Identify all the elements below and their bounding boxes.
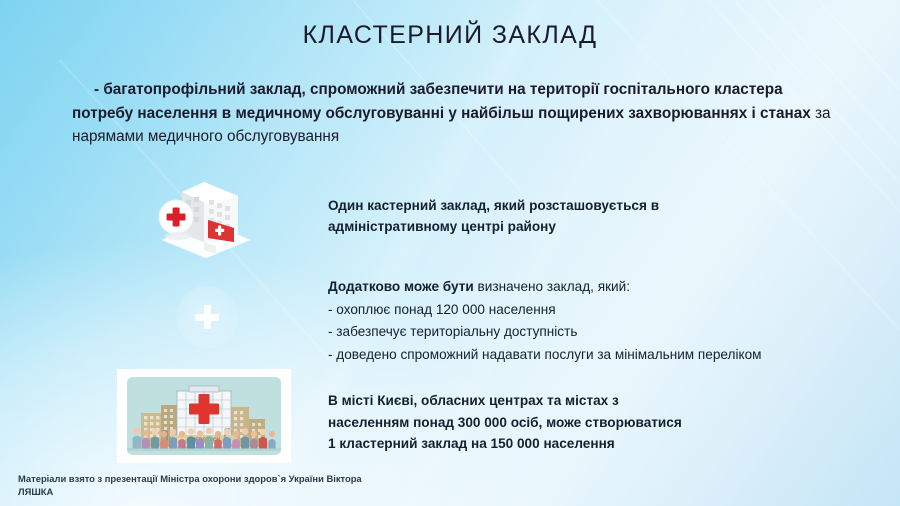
city-crowd-illustration: EMERGENCY — [117, 369, 291, 463]
block3-line-2: населенням понад 300 000 осіб, може ство… — [328, 412, 682, 434]
block2-heading-regular: визначено заклад, який: — [474, 279, 630, 294]
block2-heading: Додатково може бути визначено заклад, як… — [328, 276, 761, 299]
block1-line-1: Один кастерний заклад, який розсташовуєт… — [328, 196, 659, 217]
page-title: КЛАСТЕРНИЙ ЗАКЛАД — [0, 21, 900, 50]
plus-horizontal-bar — [195, 314, 219, 321]
intro-bold-text: - багатопрофільний заклад, спроможний за… — [72, 81, 811, 122]
block2-heading-bold: Додатково може бути — [328, 279, 474, 294]
block-large-cities: В місті Києві, обласних центрах та міста… — [328, 390, 682, 455]
footer-line-1: Матеріали взято з презентації Міністра о… — [18, 473, 488, 486]
hospital-building-icon — [142, 162, 268, 260]
intro-paragraph: - багатопрофільний заклад, спроможний за… — [72, 78, 834, 149]
block-additional-criteria: Додатково може бути визначено заклад, як… — [328, 276, 761, 366]
block-one-cluster-facility: Один кастерний заклад, який розсташовуєт… — [328, 196, 659, 237]
block1-line-2: адміністративному центрі району — [328, 217, 659, 238]
plus-badge-icon — [176, 286, 238, 348]
block3-line-3: 1 кластерний заклад на 150 000 населення — [328, 433, 682, 455]
block2-bullet-3: - доведено спроможний надавати послуги з… — [328, 344, 761, 367]
block2-bullet-1: - охоплює понад 120 000 населення — [328, 299, 761, 322]
source-footer: Матеріали взято з презентації Міністра о… — [18, 473, 488, 498]
block2-bullet-2: - забезпечує територіальну доступність — [328, 321, 761, 344]
footer-line-2: ЛЯШКА — [18, 486, 488, 499]
slide-canvas: КЛАСТЕРНИЙ ЗАКЛАД - багатопрофільний зак… — [0, 0, 900, 506]
block3-line-1: В місті Києві, обласних центрах та міста… — [328, 390, 682, 412]
